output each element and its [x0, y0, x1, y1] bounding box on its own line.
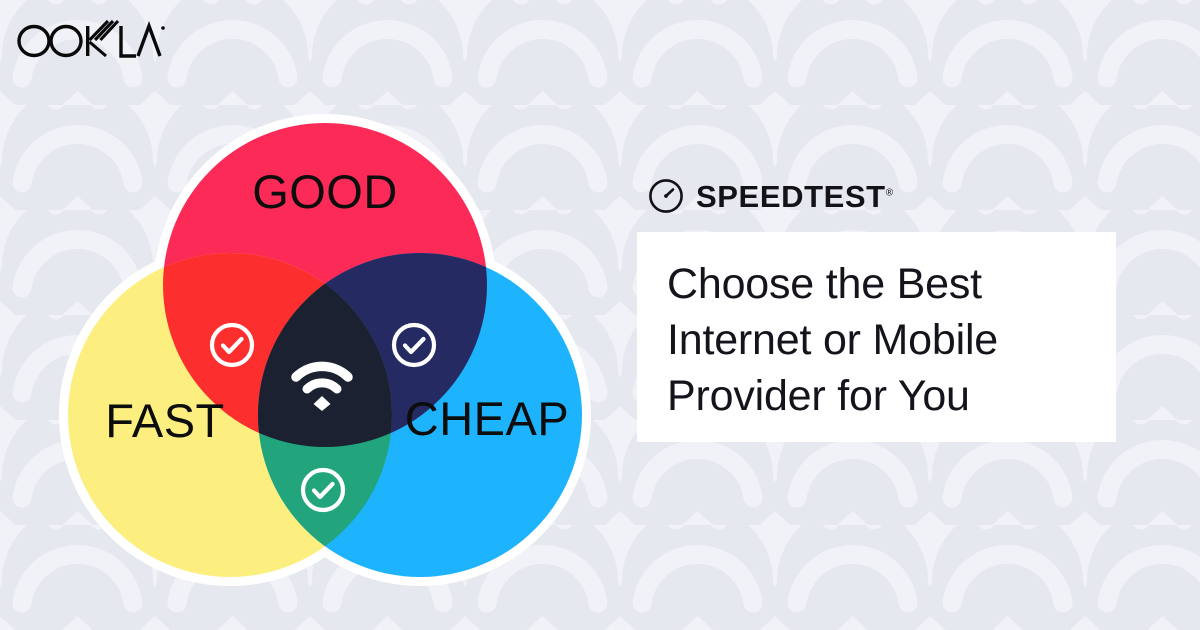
venn-label-cheap: CHEAP — [405, 392, 569, 445]
headline-card: Choose the Best Internet or Mobile Provi… — [637, 232, 1116, 442]
speedtest-logo: SPEEDTEST® — [648, 178, 893, 214]
registered-mark-icon — [161, 26, 165, 30]
headline-line-1: Choose the Best — [667, 256, 1086, 312]
headline-line-2: Internet or Mobile — [667, 312, 1086, 368]
venn-label-good: GOOD — [252, 165, 398, 218]
venn-diagram: GOOD FAST CHEAP — [0, 40, 620, 600]
headline-line-3: Provider for You — [667, 368, 1086, 424]
ookla-logo — [16, 18, 166, 67]
speedtest-wordmark: SPEEDTEST® — [696, 181, 893, 212]
speedtest-wordmark-text: SPEEDTEST — [696, 179, 886, 214]
venn-label-fast: FAST — [105, 394, 225, 447]
speedometer-gauge-icon — [648, 178, 684, 214]
headline-text: Choose the Best Internet or Mobile Provi… — [667, 256, 1086, 424]
registered-mark-icon: ® — [886, 187, 893, 198]
